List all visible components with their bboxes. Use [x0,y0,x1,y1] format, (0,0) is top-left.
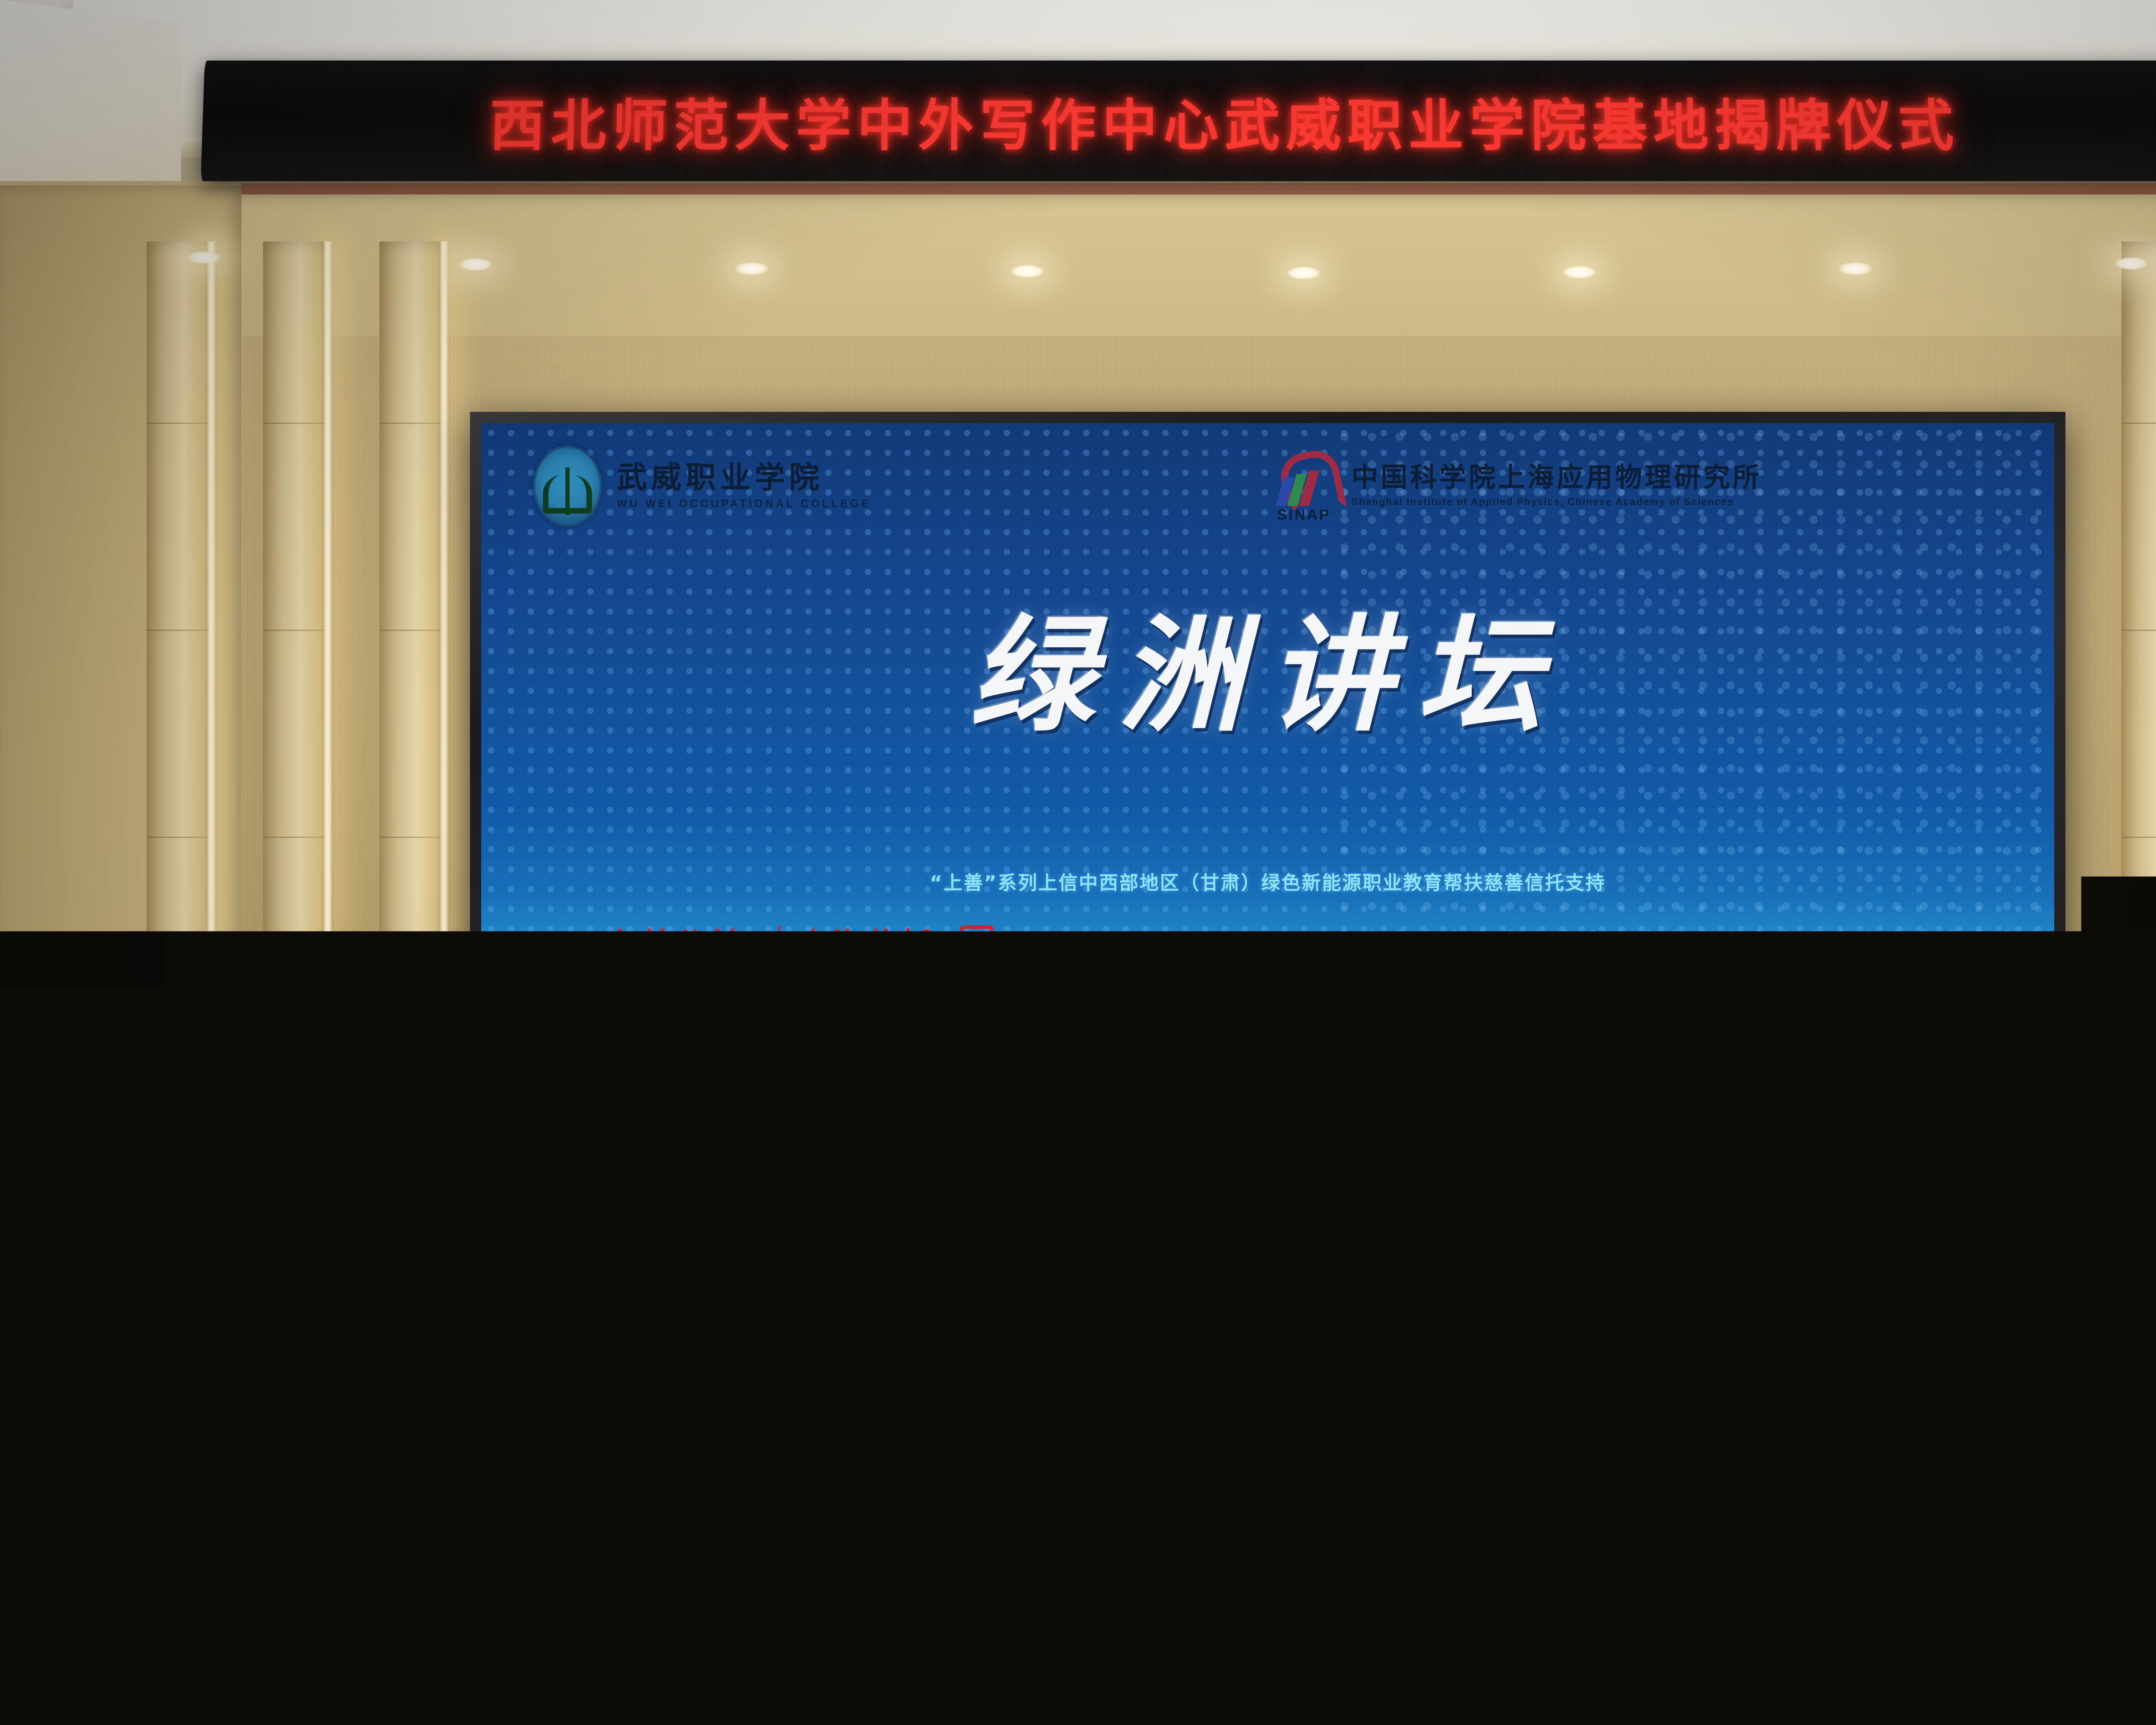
wuwei-college-name-en: WU WEI OCCUPATIONAL COLLEGE [617,498,871,510]
screen-logo-row: 武威职业学院 WU WEI OCCUPATIONAL COLLEGE SINAP… [481,445,2054,540]
led-display-bezel: 武威职业学院 WU WEI OCCUPATIONAL COLLEGE SINAP… [470,412,2065,1283]
sinap-mark-icon: SINAP [1275,449,1339,522]
presenter-name-text: 倪志明 [707,1338,789,1357]
attendee-head [992,1603,1100,1725]
left-door[interactable] [0,1087,139,1484]
ceiling-red-reveal [241,183,2156,194]
ceiling-downlight [1285,266,1322,280]
microphone-led-indicator [698,1264,709,1275]
attendee-head [707,1600,815,1725]
attendee-head [423,1604,530,1725]
sponsor-shanshan-philanthropy: 上善公益 S·H TRUST PHILANTHROPY [587,929,761,979]
attendee-head [1940,1447,2025,1534]
laptop-brand-label: Lenovo [589,1354,628,1365]
attendee-head [1846,1607,1953,1725]
wuwei-college-name-cn: 武威职业学院 [617,462,871,492]
auditorium-scene: 西北师范大学中外写作中心武威职业学院基地揭牌仪式 武威职业学院 WU WEI O… [0,0,2156,1725]
solar-panel-icon [1228,1034,1317,1108]
led-banner-text: 西北师范大学中外写作中心武威职业学院基地揭牌仪式 [201,81,2156,161]
chair-label: 正创新 [793,1614,936,1635]
screen-main-title: 绿洲讲坛 [481,613,2054,738]
sinap-logo: SINAP 中国科学院上海应用物理研究所 Shanghai Institute … [1275,449,1762,522]
wall-pilaster-left-3 [379,241,444,1328]
audience-area: 正创新 正创新 正创新 正创新 正创新 正创新 正创新 正创新 正创新 正创新 … [0,1436,2156,1725]
sponsor-divider [778,925,780,982]
sponsor-2-en: SHANGHAI TRUST [809,966,924,979]
attendee-head [1276,1606,1384,1725]
wall-pilaster-right-1 [2122,241,2156,1328]
ceiling-downlight [185,250,222,265]
attendee-head [655,1453,740,1538]
sponsor-1-en: S·H TRUST PHILANTHROPY [587,966,761,979]
sponsor-shanghai-trust: 上海信托 SHANGHAI TRUST [798,929,936,979]
chair-label: 正创新 [1414,1615,1557,1636]
attendee-head [414,1447,500,1534]
wall-pilaster-left-1 [147,241,211,1328]
sponsor-2-cn: 上海信托 [798,929,936,962]
attendee-head [880,1447,964,1534]
attendee-head [1095,1442,1181,1531]
led-display: 武威职业学院 WU WEI OCCUPATIONAL COLLEGE SINAP… [481,423,2054,1270]
ceiling-downlight [1561,265,1598,279]
ceiling-downlight [733,261,770,276]
sponsor-seal-icon [960,925,993,969]
presenter-name-card: 倪志明 [707,1315,789,1363]
attendee-head [1561,1603,1669,1725]
ceiling-downlight [1837,261,1874,276]
chair-label: 正创新 [1725,1616,1867,1637]
attendee-head [1725,1453,1809,1538]
attendee-head [103,1436,190,1527]
screen-subtitle: “上善”系列上信中西部地区（甘肃）绿色新能源职业教育帮扶慈善信托支持 [481,867,2054,895]
wall-pilaster-left-2 [263,241,328,1328]
attendee-head [1518,1446,1604,1534]
led-banner: 西北师范大学中外写作中心武威职业学院基地揭牌仪式 [201,60,2156,181]
ceiling-downlight [2113,256,2150,271]
city-skyline-graphic [1632,912,2020,1179]
attendee-head [1302,1436,1387,1525]
wuwei-college-seal-icon [533,445,602,527]
chair-label: 正创新 [1104,1615,1246,1636]
ceiling-downlight [1009,264,1046,279]
wuwei-college-logo: 武威职业学院 WU WEI OCCUPATIONAL COLLEGE [533,445,871,527]
sinap-acronym: SINAP [1277,507,1331,524]
door-handle-icon [16,1234,26,1316]
chair-label: 正创新 [2035,1618,2156,1639]
sinap-name-cn: 中国科学院上海应用物理研究所 [1351,464,1762,491]
sponsor-1-cn: 上善公益 [605,929,743,962]
sinap-name-en: Shanghai Institute of Applied Physics, C… [1351,496,1762,508]
solar-panel-icon [1331,982,1422,1057]
ceiling-downlight [457,257,494,272]
sponsor-logos: 上善公益 S·H TRUST PHILANTHROPY 上海信托 SHANGHA… [587,925,993,982]
attendee-head [103,1609,211,1725]
